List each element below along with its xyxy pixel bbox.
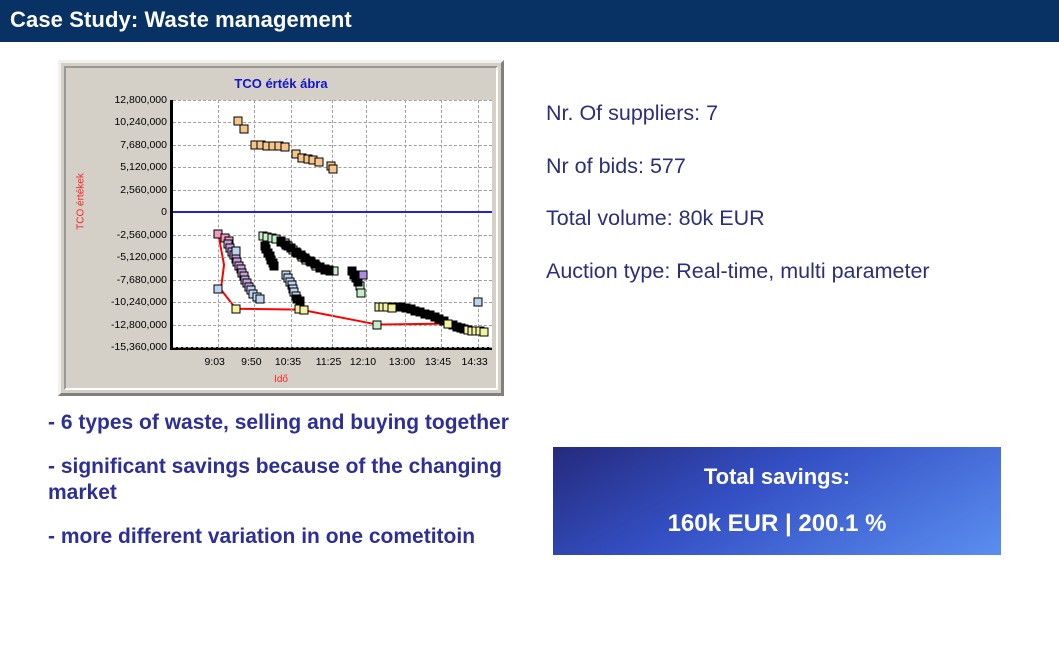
info-line-volume: Total volume: 80k EUR xyxy=(546,205,1016,232)
chart-data-point xyxy=(213,285,222,294)
chart-x-tick-label: 11:25 xyxy=(316,356,342,368)
chart-data-point xyxy=(356,288,365,297)
chart-y-tick-label: 7,680,000 xyxy=(74,139,167,151)
chart-data-point xyxy=(325,266,334,275)
chart-data-point xyxy=(281,143,290,152)
chart-x-tick-label: 13:00 xyxy=(389,356,415,368)
chart-plot-area xyxy=(170,100,492,350)
chart-y-tick-label: 0 xyxy=(74,206,167,218)
page-title: Case Study: Waste management xyxy=(10,7,352,33)
total-savings-box: Total savings: 160k EUR | 200.1 % xyxy=(553,447,1001,555)
chart-gridline-vertical xyxy=(366,100,367,347)
chart-x-tick-label: 10:35 xyxy=(275,356,301,368)
chart-x-tick-label: 13:45 xyxy=(425,356,451,368)
chart-x-tick-label: 14:33 xyxy=(462,356,488,368)
chart-y-tick-label: -2,560,000 xyxy=(74,229,167,241)
info-line-auction-type: Auction type: Real-time, multi parameter xyxy=(546,258,1016,285)
bullet-item: - more different variation in one cometi… xyxy=(48,524,558,550)
info-line-suppliers: Nr. Of suppliers: 7 xyxy=(546,100,1016,127)
info-line-bids: Nr of bids: 577 xyxy=(546,153,1016,180)
chart-gridline-horizontal xyxy=(173,347,492,348)
chart-data-point xyxy=(358,271,367,280)
chart-data-point xyxy=(480,327,489,336)
chart-y-tick-label: 5,120,000 xyxy=(74,161,167,173)
chart-gridline-vertical xyxy=(218,100,219,347)
chart-data-point xyxy=(314,158,323,167)
chart-y-tick-label: 12,800,000 xyxy=(74,94,167,106)
chart-gridline-vertical xyxy=(254,100,255,347)
chart-frame: TCO érték ábra TCO értékek Idő 12,800,00… xyxy=(58,60,504,396)
chart-y-tick-label: -15,360,000 xyxy=(74,341,167,353)
chart-gridline-vertical xyxy=(478,100,479,347)
slide-title-bar: Case Study: Waste management xyxy=(0,0,1059,42)
chart-y-tick-label: 2,560,000 xyxy=(74,184,167,196)
chart-zero-line xyxy=(173,211,492,213)
chart-x-tick-label: 9:03 xyxy=(204,356,224,368)
total-savings-value: 160k EUR | 200.1 % xyxy=(668,510,887,538)
chart-y-tick-label: -5,120,000 xyxy=(74,251,167,263)
chart-x-axis-title: Idő xyxy=(166,374,396,385)
total-savings-label: Total savings: xyxy=(704,464,850,490)
chart-gridline-vertical xyxy=(441,100,442,347)
chart-data-point xyxy=(255,295,264,304)
chart-data-point xyxy=(443,319,452,328)
chart-gridline-vertical xyxy=(291,100,292,347)
chart-y-tick-label: -10,240,000 xyxy=(74,296,167,308)
chart-x-axis-ticks: 9:039:5010:3511:2512:1013:0013:4514:33 xyxy=(170,356,495,372)
chart-gridline-vertical xyxy=(332,100,333,347)
chart-title: TCO érték ábra xyxy=(66,76,496,91)
chart-data-point xyxy=(270,261,279,270)
chart-data-point xyxy=(300,305,309,314)
chart-data-point xyxy=(387,303,396,312)
chart-y-tick-label: 10,240,000 xyxy=(74,116,167,128)
bullet-item: - significant savings because of the cha… xyxy=(48,454,558,506)
auction-info-block: Nr. Of suppliers: 7 Nr of bids: 577 Tota… xyxy=(546,100,1016,285)
chart-data-point xyxy=(473,297,482,306)
chart-data-point xyxy=(231,304,240,313)
chart-y-axis-ticks: 12,800,00010,240,0007,680,0005,120,0002,… xyxy=(74,100,167,350)
chart-data-point xyxy=(373,320,382,329)
bullet-list: - 6 types of waste, selling and buying t… xyxy=(48,410,558,550)
chart-panel: TCO érték ábra TCO értékek Idő 12,800,00… xyxy=(64,66,498,390)
chart-x-tick-label: 9:50 xyxy=(241,356,261,368)
bullet-item: - 6 types of waste, selling and buying t… xyxy=(48,410,558,436)
chart-data-point xyxy=(328,165,337,174)
chart-data-point xyxy=(231,246,240,255)
chart-data-point xyxy=(239,124,248,133)
chart-y-tick-label: -12,800,000 xyxy=(74,319,167,331)
chart-y-tick-label: -7,680,000 xyxy=(74,274,167,286)
chart-x-tick-label: 12:10 xyxy=(350,356,376,368)
